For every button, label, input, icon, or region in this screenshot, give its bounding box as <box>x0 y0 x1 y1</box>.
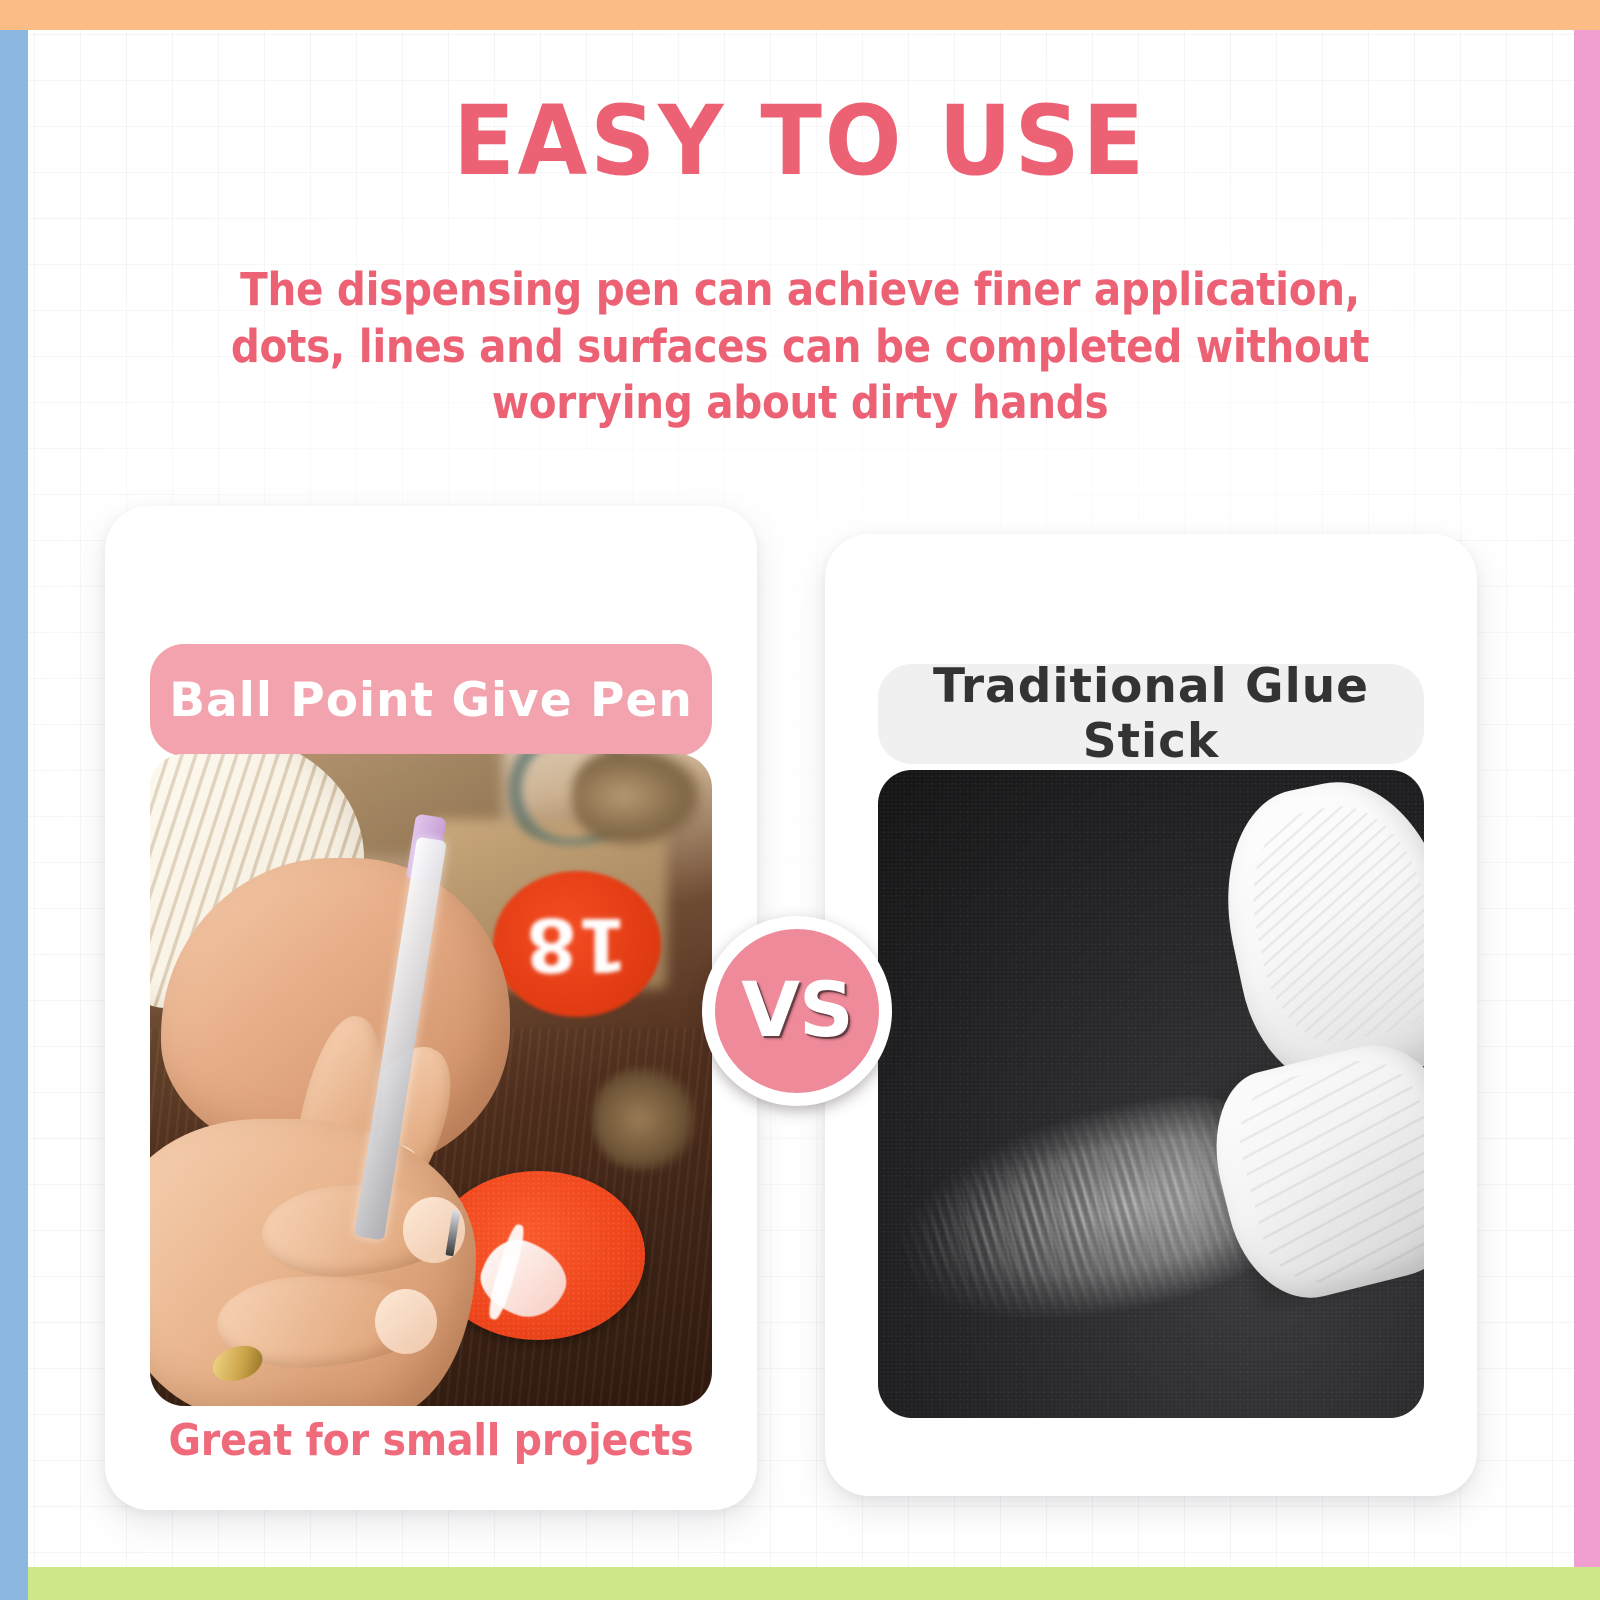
glue-stick-photo-scene <box>878 770 1424 1418</box>
comparison-card-glue-stick: Traditional Glue Stick <box>825 534 1477 1496</box>
glue-stick-photo <box>878 770 1424 1418</box>
red-number-tag: 18 <box>493 871 662 1017</box>
frame-bar-right <box>1574 30 1600 1567</box>
pinecone-decor-top <box>572 754 701 845</box>
red-tag-number: 18 <box>493 871 662 1017</box>
frame-bar-top <box>0 0 1600 30</box>
pinecone-decor-side <box>594 1067 695 1171</box>
glue-pen-photo: 18 <box>150 754 712 1406</box>
card-caption-glue-pen: Great for small projects <box>105 1415 757 1466</box>
fingernail-lower-b <box>375 1289 437 1354</box>
glue-pen-photo-scene: 18 <box>150 754 712 1406</box>
page-title: EASY TO USE <box>48 93 1552 189</box>
card-banner-glue-stick: Traditional Glue Stick <box>878 664 1424 764</box>
page-subtitle: The dispensing pen can achieve finer app… <box>210 262 1390 432</box>
vs-badge: VS <box>702 916 892 1106</box>
card-banner-label: Traditional Glue Stick <box>878 659 1424 769</box>
card-banner-glue-pen: Ball Point Give Pen <box>150 644 712 756</box>
frame-bar-left <box>0 30 28 1600</box>
vs-label: VS <box>741 965 853 1054</box>
comparison-card-glue-pen: Ball Point Give Pen 18 <box>105 506 757 1510</box>
infographic-page: EASY TO USE The dispensing pen can achie… <box>0 0 1600 1600</box>
frame-bar-bottom <box>28 1567 1600 1600</box>
card-banner-label: Ball Point Give Pen <box>169 673 693 728</box>
